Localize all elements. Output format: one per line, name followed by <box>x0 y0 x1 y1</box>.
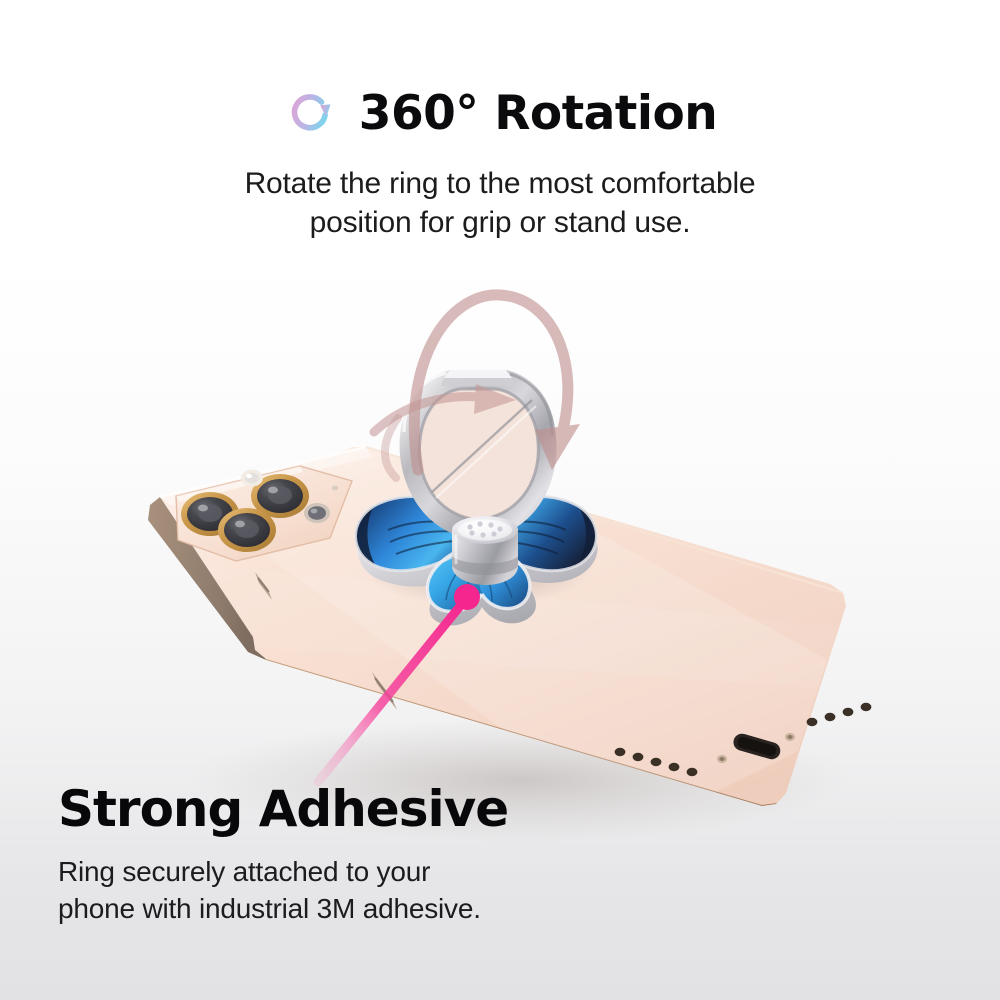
rotation-arrow-icon <box>283 84 341 142</box>
microphone-hole <box>332 486 338 491</box>
camera-flash-icon <box>241 470 263 487</box>
ring-top-facet <box>444 370 512 378</box>
ring-pivot-hub <box>452 516 518 585</box>
footer-title: Strong Adhesive <box>58 784 508 834</box>
feature-header: 360° Rotation Rotate the ring to the mos… <box>0 84 1000 242</box>
feature-footer: Strong Adhesive Ring securely attached t… <box>58 784 508 928</box>
pointer-dot <box>454 584 480 610</box>
footer-body-line-1: Ring securely attached to your <box>58 854 508 891</box>
product-feature-graphic: 360° Rotation Rotate the ring to the mos… <box>0 0 1000 1000</box>
page-title: 360° Rotation <box>359 90 717 137</box>
speaker-grille-right <box>807 703 872 726</box>
header-subtitle: Rotate the ring to the most comfortable … <box>0 164 1000 242</box>
footer-body-line-2: phone with industrial 3M adhesive. <box>58 891 508 928</box>
camera-lens-3 <box>218 508 276 552</box>
lidar-sensor <box>304 503 330 523</box>
title-row: 360° Rotation <box>0 84 1000 142</box>
subtitle-line-2: position for grip or stand use. <box>0 203 1000 242</box>
footer-body: Ring securely attached to your phone wit… <box>58 854 508 928</box>
subtitle-line-1: Rotate the ring to the most comfortable <box>0 164 1000 203</box>
